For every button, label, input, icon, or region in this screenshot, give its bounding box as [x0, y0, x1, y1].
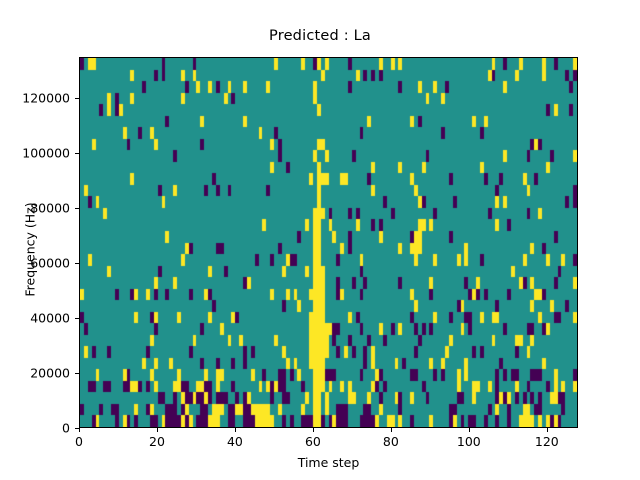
x-tick-label: 40 [205, 434, 265, 449]
x-tick-mark [79, 428, 80, 432]
y-tick-label: 40000 [6, 311, 70, 326]
x-tick-mark [235, 428, 236, 432]
x-tick-label: 60 [283, 434, 343, 449]
chart-title: Predicted : La [0, 28, 640, 44]
x-tick-mark [547, 428, 548, 432]
matplotlib-figure: Predicted : La 0200004000060000800001000… [0, 0, 640, 480]
x-tick-mark [157, 428, 158, 432]
y-tick-label: 20000 [6, 366, 70, 381]
x-tick-label: 80 [361, 434, 421, 449]
y-tick-label: 120000 [6, 91, 70, 106]
x-tick-label: 0 [49, 434, 109, 449]
x-tick-mark [469, 428, 470, 432]
x-tick-label: 100 [439, 434, 499, 449]
y-axis-label: Frequency (Hz) [23, 140, 38, 360]
y-tick-label: 60000 [6, 256, 70, 271]
y-tick-mark [75, 428, 79, 429]
heatmap-image [80, 58, 577, 427]
y-tick-label: 80000 [6, 201, 70, 216]
y-tick-label: 0 [6, 421, 70, 436]
y-tick-label: 100000 [6, 146, 70, 161]
x-tick-mark [391, 428, 392, 432]
x-axis-label: Time step [79, 455, 578, 470]
x-tick-label: 120 [517, 434, 577, 449]
x-tick-mark [313, 428, 314, 432]
x-tick-label: 20 [127, 434, 187, 449]
heatmap-plot-area [79, 57, 578, 428]
